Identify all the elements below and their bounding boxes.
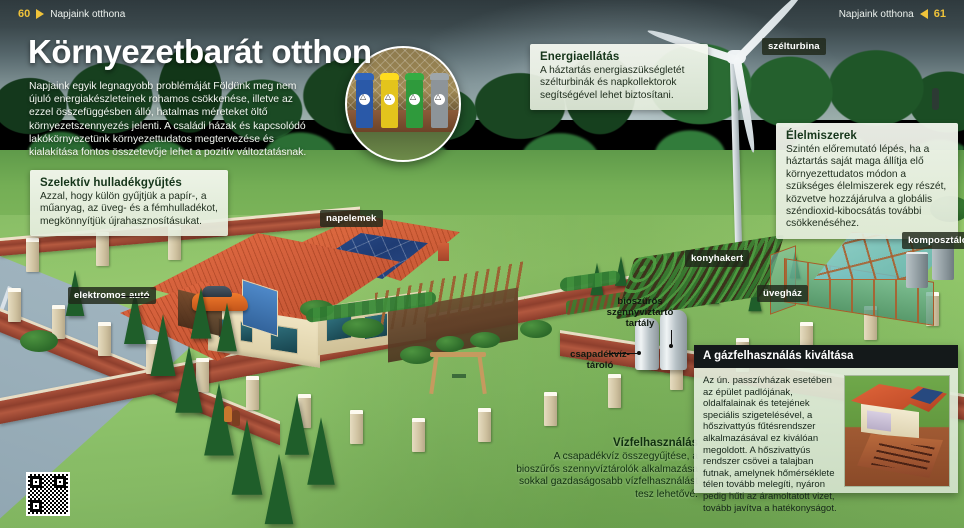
- tag-uveghaz: üvegház: [757, 285, 808, 302]
- tag-szelturbina: szélturbina: [762, 38, 826, 55]
- bush: [400, 346, 434, 364]
- conifer-tree: [175, 345, 203, 413]
- callout-title: Szelektív hulladékgyűjtés: [40, 177, 218, 189]
- conifer-tree: [307, 417, 335, 485]
- bush: [470, 332, 500, 348]
- leader-line: [608, 353, 640, 354]
- label-line-1: csapadékvíz-: [566, 349, 634, 360]
- gas-panel-text: Az ún. passzívházak esetében az épület p…: [703, 375, 837, 514]
- recycling-bin-glass: [406, 78, 423, 128]
- swing-set: [430, 352, 486, 392]
- callout-title: Energiaellátás: [540, 51, 698, 63]
- composter-bin: [906, 252, 928, 288]
- fence-post: [8, 288, 21, 322]
- intro-paragraph: Napjaink egyik legnagyobb problémáját Fö…: [29, 80, 317, 159]
- swing-seat: [452, 374, 466, 378]
- fence-post: [26, 238, 39, 272]
- diagram-interior: [867, 410, 891, 431]
- fence-post: [98, 322, 111, 356]
- recycle-icon: [409, 94, 420, 105]
- qr-finder-pattern: [30, 500, 42, 512]
- qr-finder-pattern: [30, 476, 42, 488]
- recycling-bin-plastic: [381, 78, 398, 128]
- label-bioszuros-szennyviztarto-tartaly: bioszűrős szennyvíztartó tartály: [598, 296, 682, 329]
- leader-dot: [669, 344, 673, 348]
- person-figure: [224, 406, 232, 422]
- tag-konyhakert: konyhakert: [685, 250, 749, 267]
- conifer-tree: [285, 395, 309, 454]
- page-title: Környezetbarát otthon: [28, 33, 372, 71]
- arrow-left-icon: [920, 9, 928, 19]
- callout-elelmiszerek: Élelmiszerek Szintén előremutató lépés, …: [776, 123, 958, 239]
- bush: [342, 318, 384, 338]
- conifer-tree: [265, 454, 294, 524]
- conifer-tree: [150, 314, 175, 376]
- label-line-1: bioszűrős: [598, 296, 682, 307]
- conifer-tree: [191, 287, 212, 338]
- recycling-bin-paper: [356, 78, 373, 128]
- header-left-label: Napjaink otthona: [50, 9, 125, 20]
- arrow-right-icon: [36, 9, 44, 19]
- chimney: [438, 243, 449, 261]
- tag-napelemek: napelemek: [320, 210, 383, 227]
- swing-leg: [429, 354, 439, 394]
- callout-szelektiv-hulladekgyujtes: Szelektív hulladékgyűjtés Azzal, hogy kü…: [30, 170, 228, 236]
- header-right: Napjaink otthona 61: [839, 8, 946, 20]
- fence-post: [412, 418, 425, 452]
- recycle-icon: [434, 94, 445, 105]
- recycling-bin-metal: [431, 78, 448, 128]
- fence-post: [350, 410, 363, 444]
- fence-post: [544, 392, 557, 426]
- bush: [436, 336, 464, 352]
- header-right-label: Napjaink otthona: [839, 9, 914, 20]
- qr-finder-pattern: [54, 476, 66, 488]
- fence-post: [478, 408, 491, 442]
- header-left: 60 Napjaink otthona: [18, 8, 125, 20]
- callout-body: A csapadékvíz összegyűjtése, a bioszűrős…: [508, 451, 698, 501]
- person-figure: [932, 88, 939, 110]
- tag-komposztalo: komposztáló: [902, 232, 964, 249]
- gas-replacement-panel: A gázfelhasználás kiváltása Az ún. passz…: [694, 345, 958, 493]
- fence-post: [608, 374, 621, 408]
- leader-line: [120, 296, 150, 297]
- page-number-right: 61: [934, 8, 946, 20]
- conifer-tree: [217, 303, 237, 352]
- qr-code[interactable]: [26, 472, 70, 516]
- passive-house-diagram-image: [844, 375, 950, 487]
- recycle-icon: [359, 94, 370, 105]
- leader-dot: [637, 351, 641, 355]
- callout-energiaellatas: Energiaellátás A háztartás energiaszüksé…: [530, 44, 708, 110]
- callout-body: Azzal, hogy külön gyűjtjük a papír-, a m…: [40, 191, 218, 228]
- label-line-3: tartály: [598, 318, 682, 329]
- recycle-icon: [384, 94, 395, 105]
- bush: [20, 330, 58, 352]
- callout-title: Élelmiszerek: [786, 130, 948, 142]
- label-line-2: tároló: [566, 360, 634, 371]
- gas-panel-title: A gázfelhasználás kiváltása: [694, 345, 958, 368]
- infographic-page: 60 Napjaink otthona Napjaink otthona 61 …: [0, 0, 964, 528]
- conifer-tree: [232, 419, 263, 495]
- callout-vizfelhasznalas: Vízfelhasználás A csapadékvíz összegyűjt…: [508, 437, 698, 501]
- bush: [520, 320, 552, 338]
- swing-leg: [477, 354, 487, 394]
- label-line-2: szennyvíztartó: [598, 307, 682, 318]
- gas-panel-body: Az ún. passzívházak esetében az épület p…: [694, 368, 958, 520]
- person-figure: [232, 410, 240, 426]
- callout-title: Vízfelhasználás: [508, 437, 698, 449]
- fence-post: [96, 232, 109, 266]
- callout-body: A háztartás energiaszükségletét szélturb…: [540, 65, 698, 102]
- page-number-left: 60: [18, 8, 30, 20]
- callout-body: Szintén előremutató lépés, ha a háztartá…: [786, 144, 948, 231]
